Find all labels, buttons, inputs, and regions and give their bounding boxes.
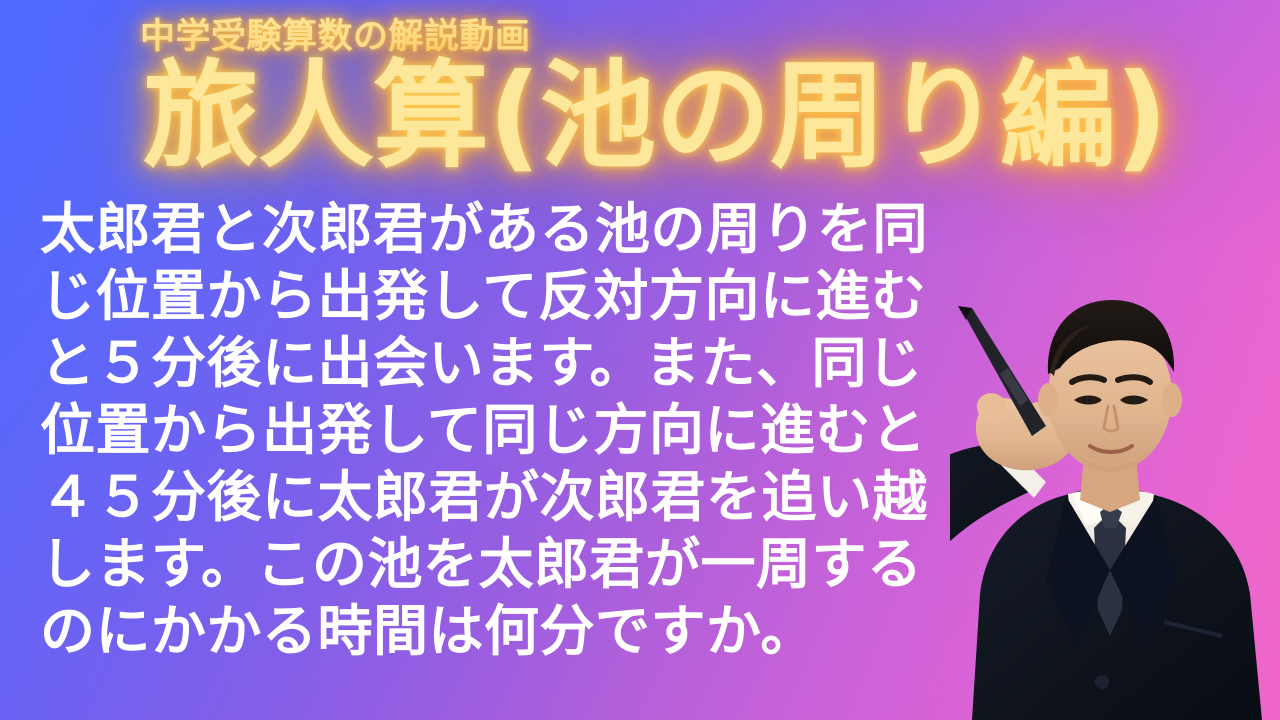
thumbnail-canvas: 中学受験算数の解説動画 旅人算(池の周り編) 太郎君と次郎君がある池の周りを同 … <box>0 0 1280 720</box>
problem-line: じ位置から出発して反対方向に進む <box>40 263 860 330</box>
problem-line: ４５分後に太郎君が次郎君を追い越 <box>40 464 860 531</box>
problem-line: のにかかる時間は何分ですか。 <box>40 598 860 665</box>
problem-line: 太郎君と次郎君がある池の周りを同 <box>40 196 860 263</box>
problem-line: 位置から出発して同じ方向に進むと <box>40 397 860 464</box>
page-title: 旅人算(池の周り編) <box>143 52 1167 182</box>
problem-line: します。この池を太郎君が一周する <box>40 531 860 598</box>
problem-statement: 太郎君と次郎君がある池の周りを同 じ位置から出発して反対方向に進む と５分後に出… <box>40 196 860 665</box>
problem-line: と５分後に出会います。また、同じ <box>40 330 860 397</box>
